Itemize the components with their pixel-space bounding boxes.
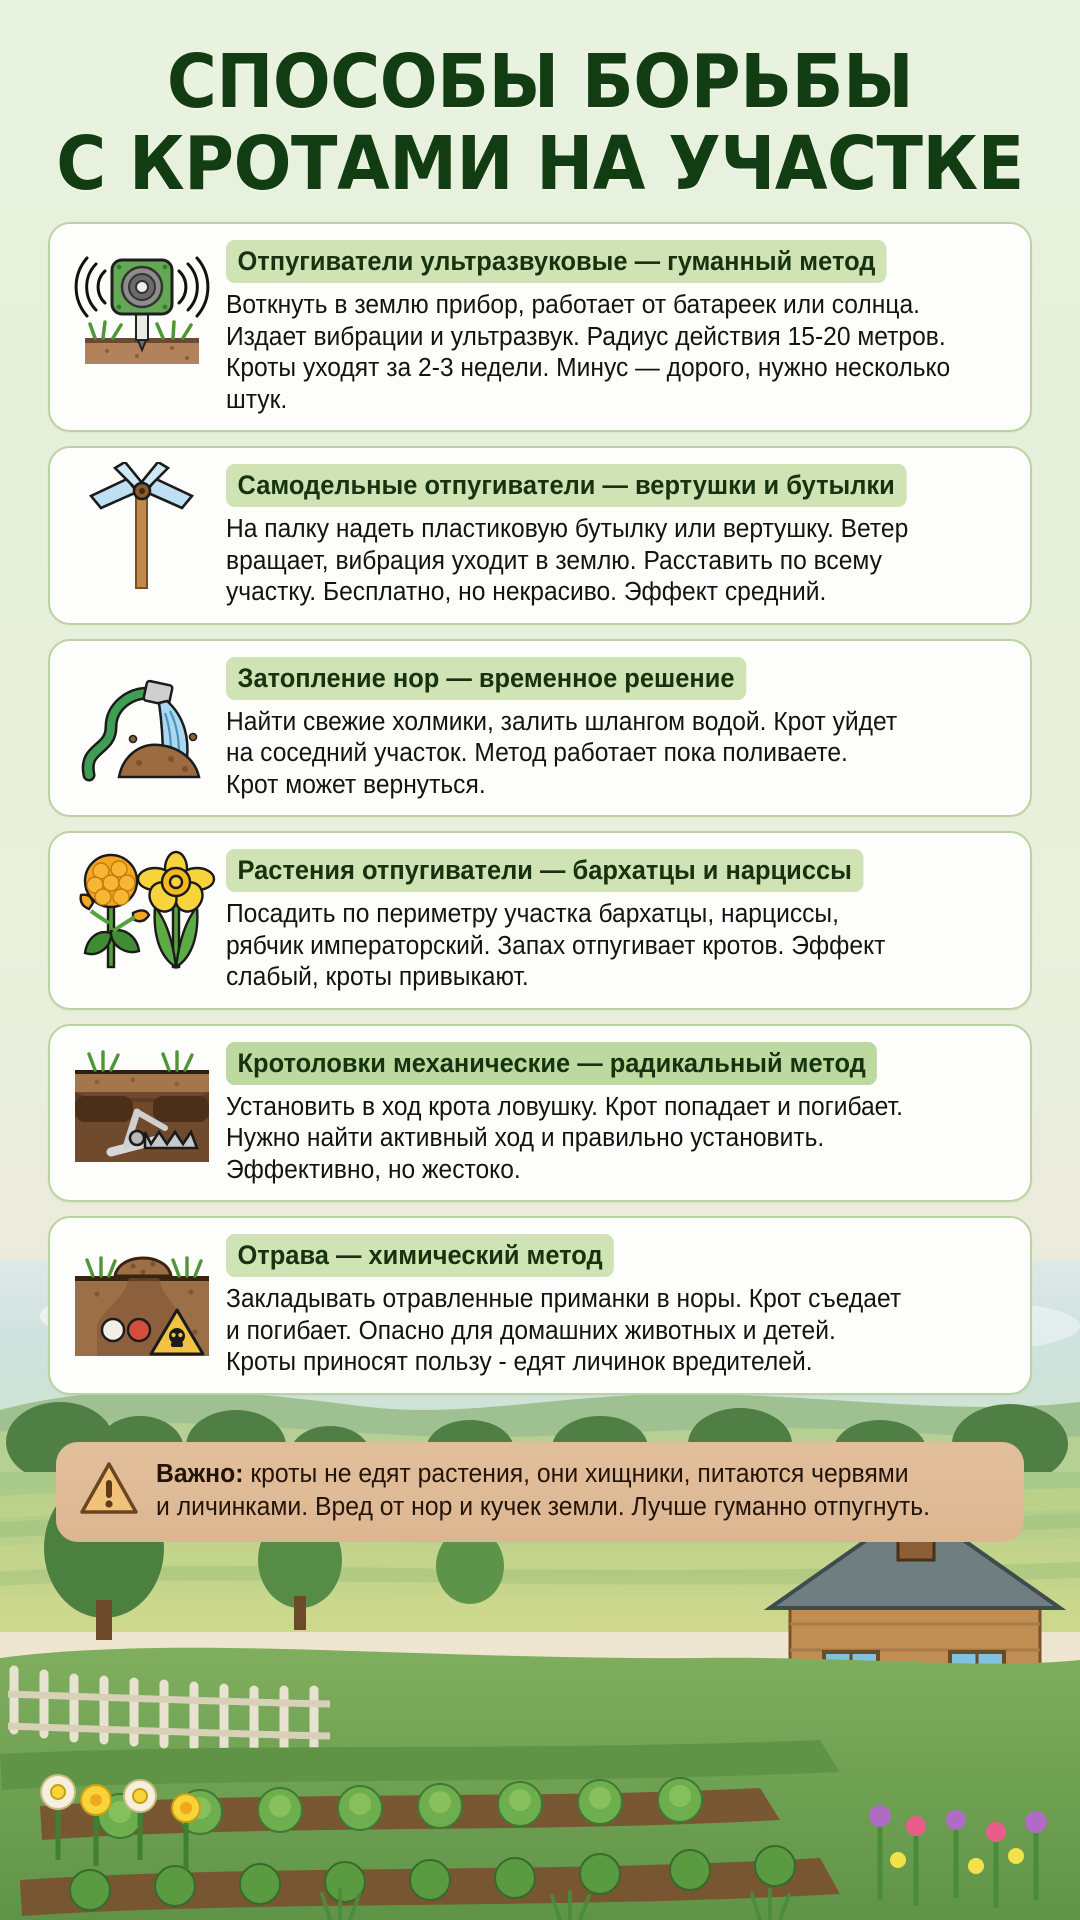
card-text-line: Нужно найти активный ход и правильно уст… bbox=[226, 1123, 984, 1155]
marigold-daffodil-icon bbox=[66, 847, 218, 975]
card-body: Растения отпугиватели — бархатцы и нарци… bbox=[226, 847, 1012, 994]
card-text-line: Кроты приносят пользу - едят личинок вре… bbox=[226, 1347, 984, 1379]
important-note-text: Важно: кроты не едят растения, они хищни… bbox=[156, 1458, 930, 1524]
card-heading: Затопление нор — временное решение bbox=[226, 657, 746, 700]
ultrasonic-repeller-icon bbox=[66, 238, 218, 366]
card-heading: Самодельные отпугиватели — вертушки и бу… bbox=[226, 464, 906, 507]
card-text-line: Издает вибрации и ультразвук. Радиус дей… bbox=[226, 322, 984, 354]
title-line-1: СПОСОБЫ БОРЬБЫ bbox=[43, 44, 1037, 120]
card-text: На палку надеть пластиковую бутылку или … bbox=[226, 514, 984, 609]
card-text-line: Закладывать отравленные приманки в норы.… bbox=[226, 1284, 984, 1316]
important-label: Важно: bbox=[156, 1460, 243, 1488]
card-text-line: слабый, кроты привыкают. bbox=[226, 962, 984, 994]
method-card-list: Отпугиватели ультразвуковые — гуманный м… bbox=[48, 222, 1032, 1409]
card-text-line: Крот может вернуться. bbox=[226, 770, 984, 802]
card-text: Установить в ход крота ловушку. Крот поп… bbox=[226, 1092, 984, 1187]
pinwheel-bottle-icon bbox=[66, 462, 218, 590]
card-heading: Отрава — химический метод bbox=[226, 1234, 614, 1277]
method-card[interactable]: Растения отпугиватели — бархатцы и нарци… bbox=[48, 831, 1032, 1010]
warning-triangle-icon bbox=[78, 1460, 144, 1523]
title-line-2: С КРОТАМИ НА УЧАСТКЕ bbox=[43, 126, 1037, 202]
card-heading: Отпугиватели ультразвуковые — гуманный м… bbox=[226, 240, 887, 283]
card-body: Затопление нор — временное решение Найти… bbox=[226, 655, 1012, 802]
card-body: Отрава — химический метод Закладывать от… bbox=[226, 1232, 1012, 1379]
important-line-2: и личинками. Вред от нор и кучек земли. … bbox=[156, 1491, 930, 1524]
card-text-line: рябчик императорский. Запах отпугивает к… bbox=[226, 931, 984, 963]
method-card[interactable]: Затопление нор — временное решение Найти… bbox=[48, 639, 1032, 818]
method-card[interactable]: Отрава — химический метод Закладывать от… bbox=[48, 1216, 1032, 1395]
card-text-line: Посадить по периметру участка бархатцы, … bbox=[226, 899, 984, 931]
card-text-line: на соседний участок. Метод работает пока… bbox=[226, 738, 984, 770]
important-line-1: кроты не едят растения, они хищники, пит… bbox=[243, 1460, 908, 1488]
card-body: Отпугиватели ультразвуковые — гуманный м… bbox=[226, 238, 1012, 416]
card-text-line: Кроты уходят за 2-3 недели. Минус — доро… bbox=[226, 353, 984, 385]
card-text-line: и погибает. Опасно для домашних животных… bbox=[226, 1316, 984, 1348]
card-text: Посадить по периметру участка бархатцы, … bbox=[226, 899, 984, 994]
card-text-line: На палку надеть пластиковую бутылку или … bbox=[226, 514, 984, 546]
card-text-line: штук. bbox=[226, 385, 984, 417]
card-text-line: участку. Бесплатно, но некрасиво. Эффект… bbox=[226, 577, 984, 609]
card-text-line: Воткнуть в землю прибор, работает от бат… bbox=[226, 290, 984, 322]
card-text: Закладывать отравленные приманки в норы.… bbox=[226, 1284, 984, 1379]
card-heading: Растения отпугиватели — бархатцы и нарци… bbox=[226, 849, 863, 892]
method-card[interactable]: Кротоловки механические — радикальный ме… bbox=[48, 1024, 1032, 1203]
hose-flooding-icon bbox=[66, 655, 218, 783]
method-card[interactable]: Отпугиватели ультразвуковые — гуманный м… bbox=[48, 222, 1032, 432]
card-body: Кротоловки механические — радикальный ме… bbox=[226, 1040, 1012, 1187]
poison-bait-icon bbox=[66, 1232, 218, 1360]
card-body: Самодельные отпугиватели — вертушки и бу… bbox=[226, 462, 1012, 609]
card-text-line: Найти свежие холмики, залить шлангом вод… bbox=[226, 707, 984, 739]
card-text-line: Эффективно, но жестоко. bbox=[226, 1155, 984, 1187]
card-heading: Кротоловки механические — радикальный ме… bbox=[226, 1042, 877, 1085]
card-text: Найти свежие холмики, залить шлангом вод… bbox=[226, 707, 984, 802]
card-text-line: вращает, вибрация уходит в землю. Расста… bbox=[226, 546, 984, 578]
card-text: Воткнуть в землю прибор, работает от бат… bbox=[226, 290, 984, 416]
card-text-line: Установить в ход крота ловушку. Крот поп… bbox=[226, 1092, 984, 1124]
method-card[interactable]: Самодельные отпугиватели — вертушки и бу… bbox=[48, 446, 1032, 625]
important-note-banner: Важно: кроты не едят растения, они хищни… bbox=[56, 1442, 1024, 1542]
page-title: СПОСОБЫ БОРЬБЫ С КРОТАМИ НА УЧАСТКЕ bbox=[0, 44, 1080, 202]
infographic-poster: СПОСОБЫ БОРЬБЫ С КРОТАМИ НА УЧАСТКЕ bbox=[0, 0, 1080, 1920]
mole-trap-icon bbox=[66, 1040, 218, 1168]
